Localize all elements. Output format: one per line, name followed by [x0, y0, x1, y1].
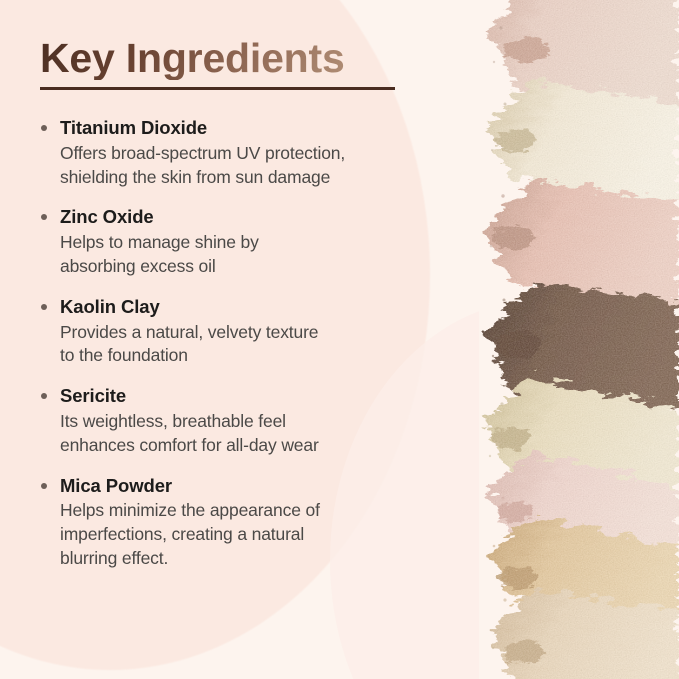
ingredient-description: Its weightless, breathable feel enhances…: [60, 410, 438, 458]
bullet-dot-icon: [41, 125, 47, 131]
ingredient-name: Titanium Dioxide: [60, 116, 438, 141]
ingredient-description: Offers broad-spectrum UV protection, shi…: [60, 142, 438, 190]
ingredients-infographic: Key Ingredients Titanium Dioxide Offers …: [0, 0, 679, 679]
bullet-dot-icon: [41, 483, 47, 489]
ingredient-name: Sericite: [60, 384, 438, 409]
powder-swatch-image: [479, 0, 679, 679]
list-item: Sericite Its weightless, breathable feel…: [38, 384, 438, 457]
bullet-dot-icon: [41, 304, 47, 310]
ingredient-name: Zinc Oxide: [60, 205, 438, 230]
title-underline: [40, 87, 395, 90]
ingredient-list: Titanium Dioxide Offers broad-spectrum U…: [38, 116, 438, 571]
list-item: Mica Powder Helps minimize the appearanc…: [38, 474, 438, 571]
bullet-dot-icon: [41, 393, 47, 399]
ingredient-description: Helps minimize the appearance of imperfe…: [60, 499, 438, 570]
ingredient-description: Helps to manage shine by absorbing exces…: [60, 231, 438, 279]
list-item: Zinc Oxide Helps to manage shine by abso…: [38, 205, 438, 278]
content-panel: Key Ingredients Titanium Dioxide Offers …: [0, 0, 470, 679]
ingredient-name: Kaolin Clay: [60, 295, 438, 320]
list-item: Kaolin Clay Provides a natural, velvety …: [38, 295, 438, 368]
ingredient-description: Provides a natural, velvety texture to t…: [60, 321, 438, 369]
page-title: Key Ingredients: [40, 36, 345, 80]
list-item: Titanium Dioxide Offers broad-spectrum U…: [38, 116, 438, 189]
bullet-dot-icon: [41, 214, 47, 220]
ingredient-name: Mica Powder: [60, 474, 438, 499]
